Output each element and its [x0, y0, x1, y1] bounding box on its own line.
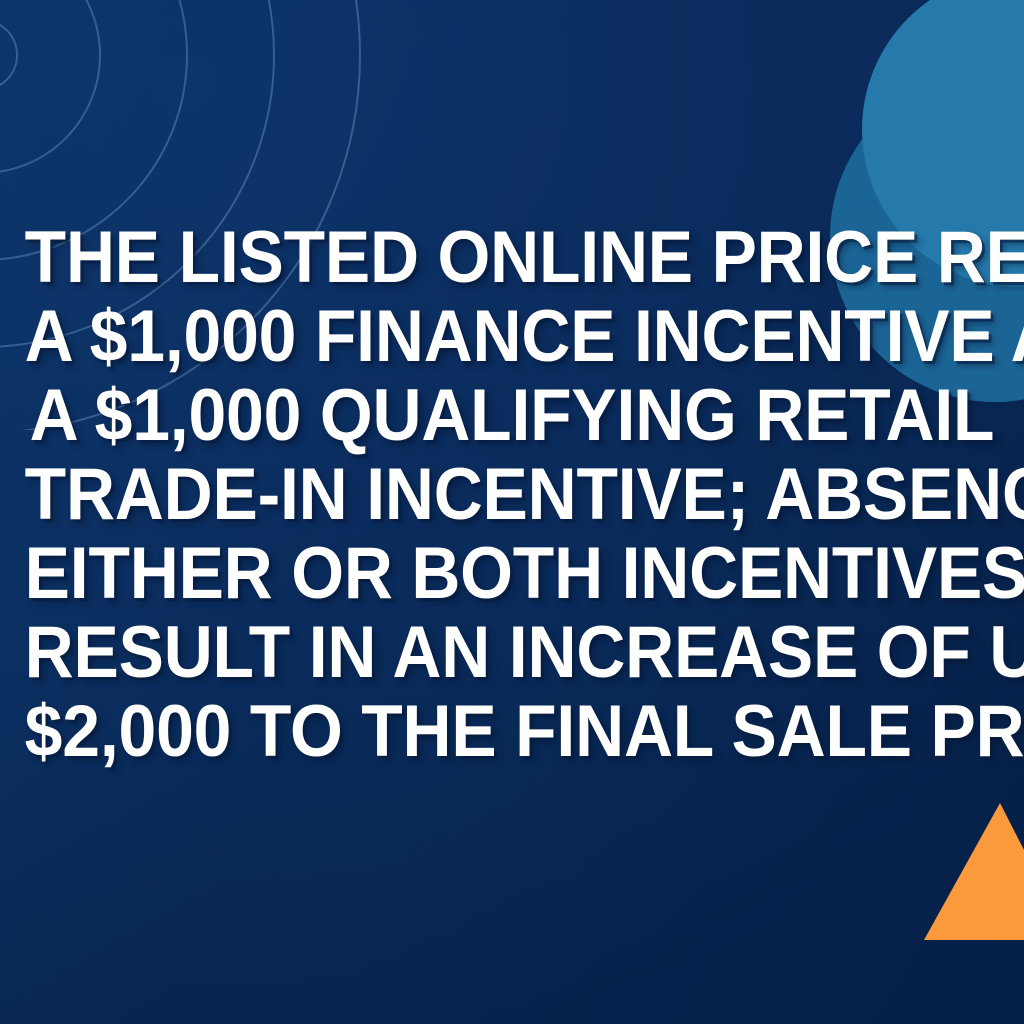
headline-line: RESULT IN AN INCREASE OF UP TO [25, 613, 1000, 692]
page-title: THE LISTED ONLINE PRICE REFLECTS A $1,00… [25, 218, 1000, 771]
headline-line: A $1,000 FINANCE INCENTIVE AND [25, 297, 1000, 376]
headline-line: $2,000 TO THE FINAL SALE PRICE. [25, 692, 1000, 771]
headline-line: THE LISTED ONLINE PRICE REFLECTS [25, 218, 1000, 297]
headline-line: TRADE-IN INCENTIVE; ABSENCE OF [25, 455, 1000, 534]
promo-disclaimer-graphic: THE LISTED ONLINE PRICE REFLECTS A $1,00… [0, 0, 1024, 1024]
headline-line: A $1,000 QUALIFYING RETAIL [25, 376, 1000, 455]
headline-line: EITHER OR BOTH INCENTIVES WILL [25, 534, 1000, 613]
decorative-triangle-icon [880, 795, 1024, 940]
